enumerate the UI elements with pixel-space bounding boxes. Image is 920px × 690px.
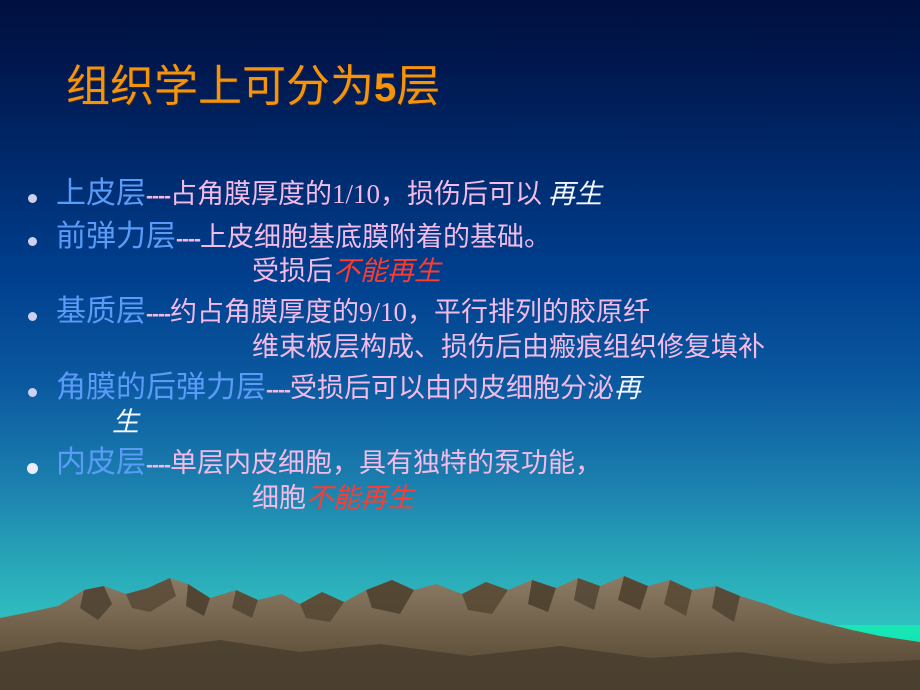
slide-canvas: 组织学上可分为5层 上皮层----占角膜厚度的1/10，损伤后可以再生 前弹力层… (0, 0, 920, 690)
bullet-item-endothelium: 内皮层----单层内皮细胞，具有独特的泵功能， 细胞不能再生 (0, 445, 920, 515)
bullet-term: 角膜的后弹力层 (56, 371, 266, 404)
bullet-desc-number: 1/10 (332, 179, 380, 209)
bullet-item-stroma: 基质层----约占角膜厚度的9/10，平行排列的胶原纤 维束板层构成、损伤后由瘢… (0, 294, 920, 364)
slide-title-suffix: 层 (396, 62, 440, 111)
bullet-list: 上皮层----占角膜厚度的1/10，损伤后可以再生 前弹力层----上皮细胞基底… (0, 176, 920, 521)
bullet-emphasis-white: 再 (614, 373, 641, 403)
bullet-emphasis-white: 再生 (548, 179, 602, 209)
bullet-subline: 细胞不能再生 (56, 482, 912, 515)
bullet-desc-a: 上皮细胞基底膜附着的基础。 (200, 222, 551, 252)
bullet-dash: ---- (176, 228, 200, 251)
bullet-desc-a: 受损后可以由内皮细胞分泌 (290, 373, 614, 403)
bullet-dash: ---- (146, 303, 170, 326)
slide-title-number: 5 (374, 66, 396, 110)
bullet-desc-b: ，损伤后可以 (380, 179, 542, 209)
mountain-range-silhouette (0, 560, 920, 690)
bullet-subline: 维束板层构成、损伤后由瘢痕组织修复填补 (56, 331, 912, 364)
bullet-emphasis-red: 不能再生 (333, 256, 441, 286)
bullet-desc-b: ，平行排列的胶原纤 (407, 297, 650, 327)
bullet-item-descemet-membrane: 角膜的后弹力层----受损后可以由内皮细胞分泌再 生 (0, 370, 920, 440)
bullet-term: 内皮层 (56, 446, 146, 479)
bullet-term: 基质层 (56, 295, 146, 328)
bullet-subline-desc: 维束板层构成、损伤后由瘢痕组织修复填补 (252, 332, 765, 362)
bullet-desc-a: 约占角膜厚度的 (170, 297, 359, 327)
bullet-dot-icon (27, 463, 38, 474)
bullet-dash: ---- (266, 379, 290, 402)
bullet-dot-icon (28, 237, 37, 246)
bullet-subline-desc: 细胞 (252, 483, 306, 513)
bullet-dash: ---- (146, 185, 170, 208)
bullet-desc-a: 占角膜厚度的 (170, 179, 332, 209)
bullet-wrap-line: 生 (56, 406, 912, 439)
slide-title: 组织学上可分为5层 (66, 50, 440, 114)
bullet-item-bowman-layer: 前弹力层----上皮细胞基底膜附着的基础。 受损后不能再生 (0, 219, 920, 289)
bullet-dot-icon (28, 312, 37, 321)
bullet-emphasis-white-wrap: 生 (112, 407, 139, 437)
slide-title-text: 组织学上可分为 (66, 62, 374, 111)
bullet-desc-number: 9/10 (359, 297, 407, 327)
bullet-term: 前弹力层 (56, 220, 176, 253)
bullet-subline-desc: 受损后 (252, 256, 333, 286)
bullet-subline: 受损后不能再生 (56, 255, 912, 288)
bullet-desc-a: 单层内皮细胞，具有独特的泵功能， (170, 448, 602, 478)
bullet-emphasis-red: 不能再生 (306, 483, 414, 513)
bullet-dot-icon (28, 194, 37, 203)
bullet-term: 上皮层 (56, 177, 146, 210)
bullet-dash: ---- (146, 454, 170, 477)
bullet-dot-icon (28, 388, 37, 397)
bullet-item-epithelium: 上皮层----占角膜厚度的1/10，损伤后可以再生 (0, 176, 920, 213)
